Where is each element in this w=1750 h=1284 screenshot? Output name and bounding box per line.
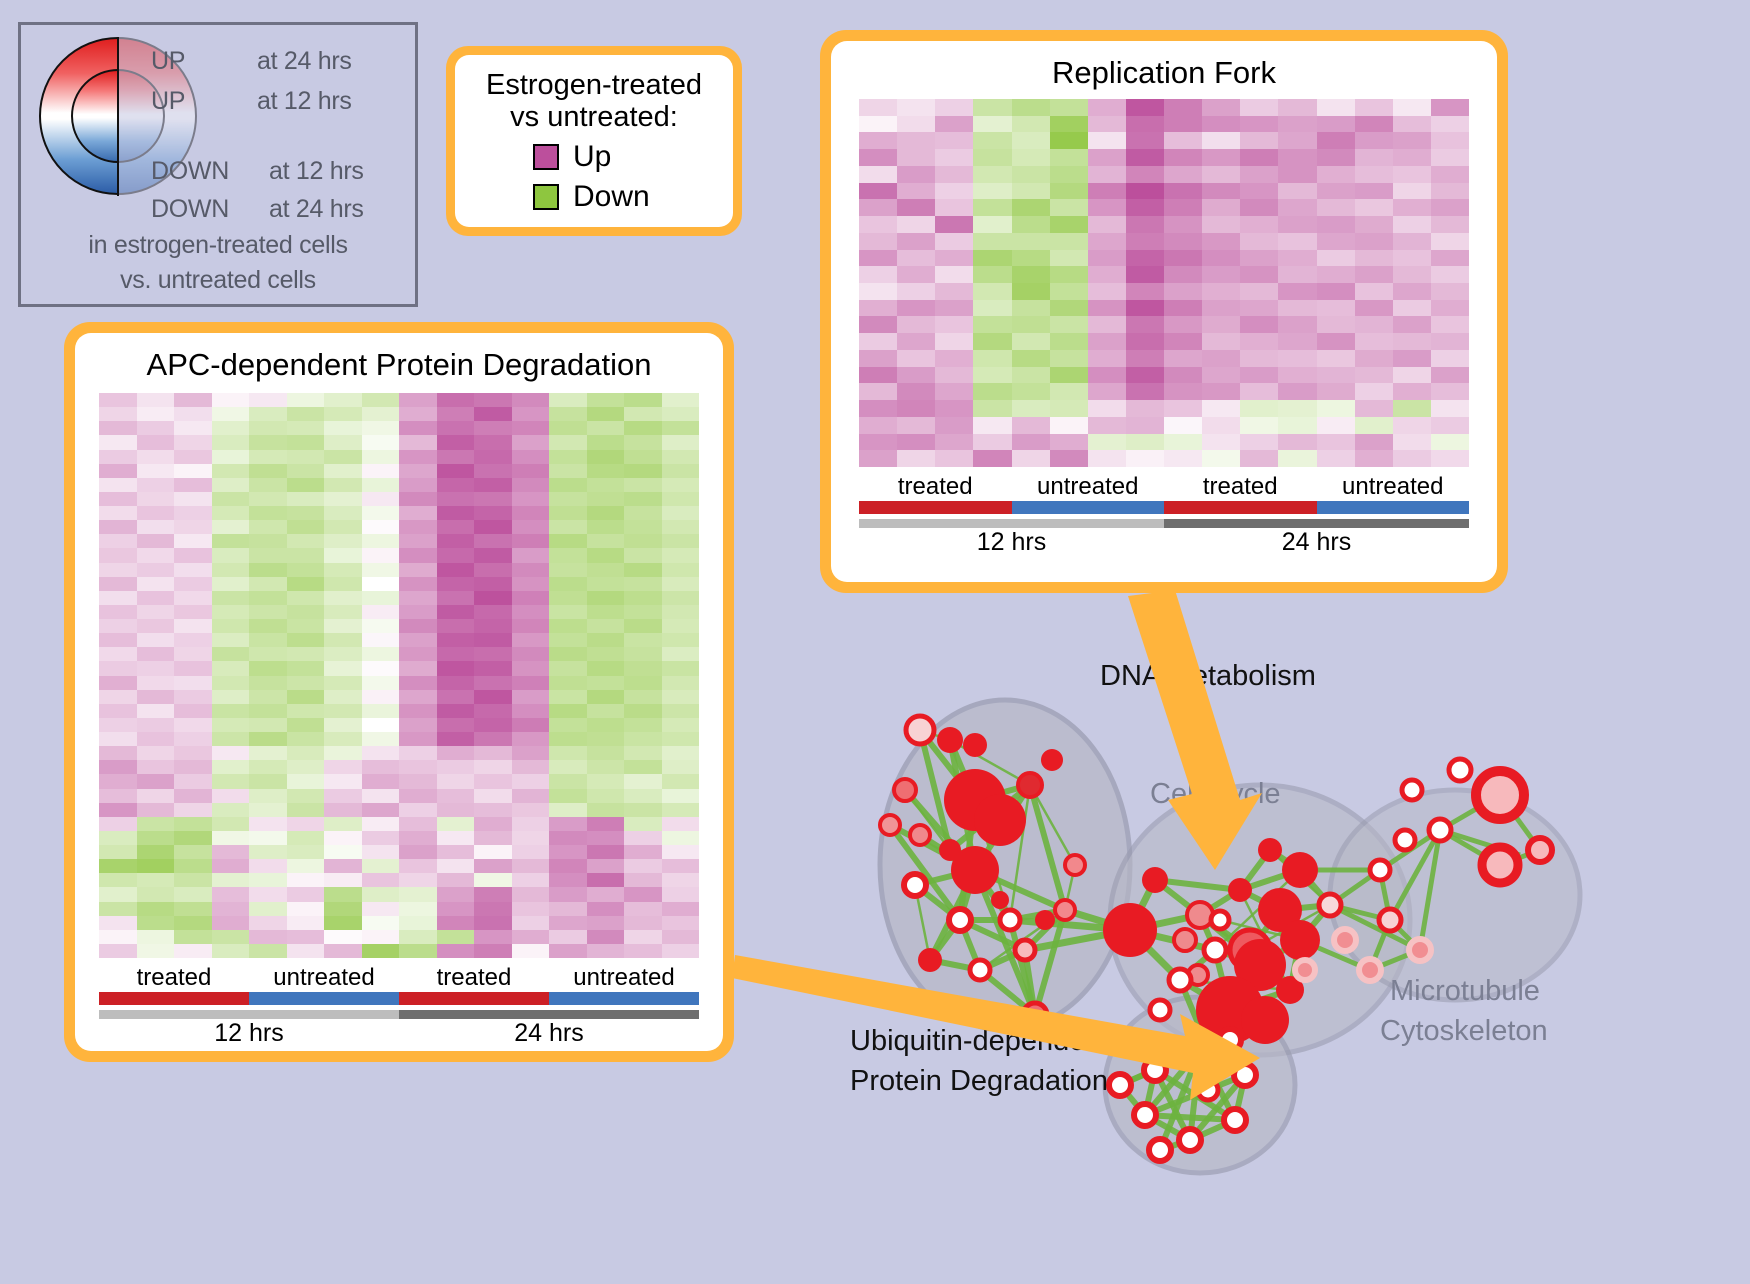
heatmap-cell [1317, 183, 1355, 200]
heatmap-cell [137, 633, 175, 647]
heatmap-cell [324, 393, 362, 407]
heatmap-cell [549, 647, 587, 661]
heatmap-cell [1164, 283, 1202, 300]
heatmap-cell [362, 548, 400, 562]
heatmap-cell [1202, 183, 1240, 200]
network-node-hub [974, 794, 1026, 846]
heatmap-cell [1317, 400, 1355, 417]
heatmap-cell [1050, 149, 1088, 166]
heatmap-cell [1278, 266, 1316, 283]
heatmap-cell [174, 661, 212, 675]
heatmap-cell [324, 704, 362, 718]
heatmap-cell [1050, 166, 1088, 183]
heatmap-cell [399, 916, 437, 930]
heatmap-cell [362, 393, 400, 407]
network-node [937, 727, 963, 753]
heatmap-cell [287, 817, 325, 831]
heatmap-cell [212, 845, 250, 859]
heatmap-cell [474, 563, 512, 577]
legend-down-24-label: DOWN [151, 195, 229, 224]
time-label-12hrs: 12 hrs [859, 528, 1164, 557]
heatmap-cell [174, 859, 212, 873]
heatmap-cell [137, 605, 175, 619]
heatmap-cell [859, 132, 897, 149]
heatmap-cell [859, 149, 897, 166]
replication-fork-time-bars [859, 519, 1469, 528]
heatmap-cell [935, 400, 973, 417]
heatmap-cell [1164, 383, 1202, 400]
heatmap-cell [287, 478, 325, 492]
heatmap-cell [212, 676, 250, 690]
heatmap-cell [549, 506, 587, 520]
heatmap-cell [662, 534, 700, 548]
heatmap-cell [249, 492, 287, 506]
heatmap-cell [362, 930, 400, 944]
heatmap-cell [362, 887, 400, 901]
heatmap-cell [437, 760, 475, 774]
network-node [1179, 1129, 1201, 1151]
heatmap-cell [549, 887, 587, 901]
cond-label-1: untreated [1012, 473, 1165, 501]
heatmap-cell [662, 661, 700, 675]
heatmap-cell [662, 676, 700, 690]
heatmap-cell [1278, 333, 1316, 350]
heatmap-cell [212, 803, 250, 817]
heatmap-cell [362, 732, 400, 746]
heatmap-cell [859, 199, 897, 216]
heatmap-cell [287, 520, 325, 534]
heatmap-cell [1317, 216, 1355, 233]
heatmap-cell [549, 859, 587, 873]
heatmap-cell [1126, 216, 1164, 233]
cond-label-2: treated [1164, 473, 1317, 501]
heatmap-cell [362, 563, 400, 577]
heatmap-cell [549, 944, 587, 958]
heatmap-cell [399, 647, 437, 661]
heatmap-cell [437, 478, 475, 492]
heatmap-cell [512, 789, 550, 803]
heatmap-cell [512, 506, 550, 520]
heatmap-cell [99, 407, 137, 421]
heatmap-cell [249, 831, 287, 845]
heatmap-cell [549, 831, 587, 845]
heatmap-cell [662, 803, 700, 817]
heatmap-cell [512, 534, 550, 548]
heatmap-cell [324, 661, 362, 675]
heatmap-cell [1431, 383, 1469, 400]
heatmap-cell [662, 605, 700, 619]
heatmap-cell [587, 563, 625, 577]
heatmap-cell [174, 464, 212, 478]
heatmap-cell [1431, 400, 1469, 417]
heatmap-cell [1164, 400, 1202, 417]
cond-label-0: treated [859, 473, 1012, 501]
apc-condition-bars [99, 992, 699, 1005]
heatmap-cell [1431, 99, 1469, 116]
heatmap-cell [287, 661, 325, 675]
heatmap-cell [1431, 350, 1469, 367]
heatmap-cell [174, 704, 212, 718]
heatmap-cell [362, 421, 400, 435]
heatmap-cell [1355, 434, 1393, 451]
heatmap-cell [1088, 166, 1126, 183]
network-node-hub [1241, 996, 1289, 1044]
expression-colorwheel-legend: UP at 24 hrs UP at 12 hrs DOWN at 12 hrs… [18, 22, 418, 307]
panel-apc-dependent-protein-degradation: APC-dependent Protein Degradation treate… [64, 322, 734, 1062]
heatmap-cell [1088, 266, 1126, 283]
heatmap-cell [662, 774, 700, 788]
heatmap-cell [137, 619, 175, 633]
heatmap-cell [1317, 383, 1355, 400]
heatmap-cell [99, 577, 137, 591]
heatmap-cell [287, 902, 325, 916]
time-bar-12hrs [859, 519, 1164, 528]
network-node-hub [1282, 852, 1318, 888]
heatmap-cell [399, 520, 437, 534]
heatmap-cell [935, 367, 973, 384]
heatmap-cell [1240, 367, 1278, 384]
heatmap-cell [1317, 350, 1355, 367]
heatmap-cell [212, 478, 250, 492]
heatmap-cell [99, 520, 137, 534]
heatmap-cell [624, 492, 662, 506]
heatmap-cell [549, 930, 587, 944]
network-node [1370, 860, 1390, 880]
heatmap-cell [137, 407, 175, 421]
heatmap-cell [474, 464, 512, 478]
heatmap-cell [1088, 367, 1126, 384]
heatmap-cell [249, 718, 287, 732]
heatmap-cell [1393, 166, 1431, 183]
heatmap-cell [897, 450, 935, 467]
heatmap-cell [1126, 116, 1164, 133]
network-node [1409, 939, 1431, 961]
heatmap-cell [474, 944, 512, 958]
heatmap-cell [1317, 266, 1355, 283]
heatmap-cell [212, 887, 250, 901]
heatmap-cell [249, 478, 287, 492]
heatmap-cell [1431, 132, 1469, 149]
heatmap-cell [399, 633, 437, 647]
heatmap-cell [549, 732, 587, 746]
heatmap-cell [137, 803, 175, 817]
heatmap-cell [1240, 99, 1278, 116]
network-node [1319, 894, 1341, 916]
heatmap-cell [324, 873, 362, 887]
heatmap-cell [1050, 450, 1088, 467]
heatmap-cell [549, 789, 587, 803]
heatmap-cell [174, 803, 212, 817]
heatmap-cell [1012, 116, 1050, 133]
heatmap-cell [137, 873, 175, 887]
heatmap-cell [324, 916, 362, 930]
heatmap-cell [99, 817, 137, 831]
heatmap-cell [174, 506, 212, 520]
heatmap-cell [362, 591, 400, 605]
heatmap-cell [512, 944, 550, 958]
updown-color-legend: Estrogen-treated vs untreated: Up Down [446, 46, 742, 236]
heatmap-cell [897, 434, 935, 451]
heatmap-cell [1202, 417, 1240, 434]
network-node [991, 891, 1009, 909]
network-node [906, 716, 934, 744]
heatmap-cell [935, 183, 973, 200]
heatmap-cell [1278, 300, 1316, 317]
heatmap-cell [99, 902, 137, 916]
heatmap-cell [362, 407, 400, 421]
heatmap-cell [1393, 400, 1431, 417]
heatmap-cell [1050, 350, 1088, 367]
heatmap-cell [1202, 333, 1240, 350]
heatmap-cell [1317, 166, 1355, 183]
heatmap-cell [512, 591, 550, 605]
heatmap-cell [249, 619, 287, 633]
heatmap-cell [587, 577, 625, 591]
heatmap-cell [1355, 183, 1393, 200]
heatmap-cell [1240, 199, 1278, 216]
heatmap-cell [512, 746, 550, 760]
heatmap-cell [1126, 149, 1164, 166]
heatmap-cell [587, 803, 625, 817]
heatmap-cell [249, 887, 287, 901]
heatmap-cell [1012, 450, 1050, 467]
heatmap-cell [174, 944, 212, 958]
heatmap-cell [662, 859, 700, 873]
heatmap-cell [174, 478, 212, 492]
heatmap-cell [362, 944, 400, 958]
heatmap-cell [662, 746, 700, 760]
network-node [1204, 939, 1226, 961]
heatmap-cell [287, 421, 325, 435]
heatmap-cell [212, 873, 250, 887]
heatmap-cell [1317, 116, 1355, 133]
heatmap-cell [399, 690, 437, 704]
heatmap-cell [859, 383, 897, 400]
heatmap-cell [973, 383, 1011, 400]
heatmap-cell [212, 464, 250, 478]
network-node [1395, 830, 1415, 850]
heatmap-cell [512, 831, 550, 845]
heatmap-cell [324, 506, 362, 520]
heatmap-cell [624, 393, 662, 407]
heatmap-cell [474, 774, 512, 788]
heatmap-cell [1164, 266, 1202, 283]
heatmap-cell [399, 789, 437, 803]
heatmap-cell [935, 383, 973, 400]
heatmap-cell [1317, 300, 1355, 317]
heatmap-cell [174, 577, 212, 591]
heatmap-cell [324, 577, 362, 591]
heatmap-cell [399, 718, 437, 732]
heatmap-cell [212, 859, 250, 873]
heatmap-cell [549, 520, 587, 534]
heatmap-cell [324, 534, 362, 548]
heatmap-cell [99, 435, 137, 449]
heatmap-cell [1355, 216, 1393, 233]
heatmap-cell [897, 400, 935, 417]
heatmap-cell [249, 605, 287, 619]
heatmap-cell [1431, 183, 1469, 200]
heatmap-cell [324, 591, 362, 605]
heatmap-cell [624, 534, 662, 548]
heatmap-cell [137, 902, 175, 916]
heatmap-cell [973, 300, 1011, 317]
heatmap-cell [1088, 250, 1126, 267]
heatmap-cell [1393, 383, 1431, 400]
heatmap-cell [99, 534, 137, 548]
heatmap-cell [174, 492, 212, 506]
heatmap-cell [212, 633, 250, 647]
heatmap-cell [1355, 450, 1393, 467]
heatmap-cell [859, 367, 897, 384]
heatmap-cell [474, 887, 512, 901]
heatmap-cell [1012, 300, 1050, 317]
heatmap-cell [324, 548, 362, 562]
heatmap-cell [1431, 199, 1469, 216]
heatmap-cell [437, 774, 475, 788]
heatmap-cell [99, 916, 137, 930]
heatmap-cell [973, 316, 1011, 333]
heatmap-cell [1202, 450, 1240, 467]
heatmap-cell [437, 704, 475, 718]
heatmap-cell [99, 647, 137, 661]
heatmap-cell [1164, 149, 1202, 166]
heatmap-cell [1164, 99, 1202, 116]
heatmap-cell [287, 704, 325, 718]
heatmap-cell [1126, 316, 1164, 333]
legend-item-up: Up [533, 140, 717, 174]
heatmap-cell [362, 803, 400, 817]
heatmap-cell [174, 930, 212, 944]
heatmap-cell [1050, 417, 1088, 434]
heatmap-cell [624, 619, 662, 633]
heatmap-cell [549, 619, 587, 633]
heatmap-cell [1050, 283, 1088, 300]
heatmap-cell [1393, 333, 1431, 350]
heatmap-cell [587, 506, 625, 520]
apc-cond-bar-treated-24 [399, 992, 549, 1005]
heatmap-cell [935, 99, 973, 116]
heatmap-cell [1012, 216, 1050, 233]
heatmap-cell [512, 464, 550, 478]
heatmap-cell [437, 887, 475, 901]
heatmap-cell [1431, 149, 1469, 166]
heatmap-cell [362, 605, 400, 619]
heatmap-cell [1393, 132, 1431, 149]
heatmap-cell [437, 421, 475, 435]
heatmap-cell [1126, 266, 1164, 283]
network-node [1234, 1064, 1256, 1086]
heatmap-cell [399, 760, 437, 774]
heatmap-cell [399, 478, 437, 492]
heatmap-cell [897, 149, 935, 166]
heatmap-cell [287, 450, 325, 464]
heatmap-cell [474, 873, 512, 887]
heatmap-cell [212, 732, 250, 746]
heatmap-cell [587, 930, 625, 944]
heatmap-cell [324, 492, 362, 506]
heatmap-cell [1088, 316, 1126, 333]
heatmap-cell [474, 393, 512, 407]
heatmap-cell [512, 676, 550, 690]
heatmap-cell [249, 647, 287, 661]
heatmap-cell [212, 591, 250, 605]
heatmap-cell [1088, 233, 1126, 250]
heatmap-cell [474, 520, 512, 534]
heatmap-cell [662, 633, 700, 647]
heatmap-cell [287, 534, 325, 548]
heatmap-cell [1164, 250, 1202, 267]
heatmap-cell [1126, 99, 1164, 116]
heatmap-cell [287, 845, 325, 859]
heatmap-cell [662, 435, 700, 449]
heatmap-cell [1393, 250, 1431, 267]
heatmap-cell [324, 789, 362, 803]
heatmap-cell [1202, 250, 1240, 267]
heatmap-cell [324, 633, 362, 647]
heatmap-cell [212, 902, 250, 916]
heatmap-cell [437, 464, 475, 478]
heatmap-cell [512, 393, 550, 407]
heatmap-cell [1164, 417, 1202, 434]
heatmap-cell [1088, 333, 1126, 350]
heatmap-cell [662, 902, 700, 916]
heatmap-cell [1126, 199, 1164, 216]
heatmap-cell [212, 760, 250, 774]
heatmap-cell [1431, 450, 1469, 467]
apc-cond-bar-treated-12 [99, 992, 249, 1005]
heatmap-cell [662, 831, 700, 845]
heatmap-cell [1126, 350, 1164, 367]
heatmap-cell [399, 450, 437, 464]
heatmap-cell [212, 690, 250, 704]
heatmap-cell [1164, 116, 1202, 133]
heatmap-cell [99, 746, 137, 760]
network-svg [800, 620, 1750, 1279]
heatmap-cell [1050, 132, 1088, 149]
heatmap-cell [249, 464, 287, 478]
heatmap-cell [973, 116, 1011, 133]
heatmap-cell [474, 450, 512, 464]
heatmap-cell [437, 845, 475, 859]
heatmap-cell [587, 760, 625, 774]
heatmap-cell [1088, 216, 1126, 233]
heatmap-cell [362, 789, 400, 803]
heatmap-cell [137, 676, 175, 690]
heatmap-cell [212, 407, 250, 421]
heatmap-cell [99, 450, 137, 464]
heatmap-cell [1126, 400, 1164, 417]
heatmap-cell [512, 718, 550, 732]
heatmap-cell [174, 435, 212, 449]
heatmap-cell [399, 944, 437, 958]
heatmap-cell [212, 831, 250, 845]
heatmap-cell [324, 760, 362, 774]
time-label-24hrs: 24 hrs [1164, 528, 1469, 557]
heatmap-cell [399, 831, 437, 845]
heatmap-cell [1088, 149, 1126, 166]
heatmap-cell [1164, 367, 1202, 384]
heatmap-cell [1050, 434, 1088, 451]
heatmap-cell [174, 407, 212, 421]
heatmap-cell [437, 676, 475, 690]
heatmap-cell [1393, 283, 1431, 300]
heatmap-cell [859, 450, 897, 467]
replication-fork-title: Replication Fork [859, 55, 1469, 91]
heatmap-cell [437, 393, 475, 407]
heatmap-cell [249, 845, 287, 859]
heatmap-cell [1126, 166, 1164, 183]
